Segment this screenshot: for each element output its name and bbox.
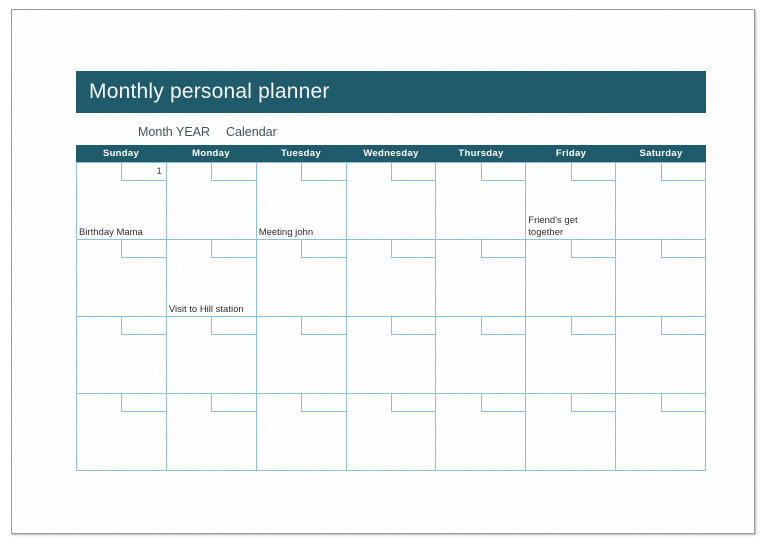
date-box[interactable] bbox=[661, 163, 705, 181]
weekday-header-tuesday: Tuesday bbox=[256, 145, 346, 162]
day-cell[interactable]: Meeting john bbox=[257, 163, 347, 240]
date-box[interactable] bbox=[391, 317, 435, 335]
day-cell[interactable] bbox=[347, 317, 437, 394]
weekday-header-monday: Monday bbox=[166, 145, 256, 162]
title-bar: Monthly personal planner bbox=[76, 71, 706, 113]
calendar-weeks: 1Birthday MamaMeeting johnFriend's get t… bbox=[76, 162, 706, 471]
date-box[interactable] bbox=[661, 317, 705, 335]
calendar-label: Calendar bbox=[226, 125, 277, 139]
day-cell[interactable] bbox=[436, 163, 526, 240]
date-box[interactable] bbox=[661, 394, 705, 412]
week-row bbox=[77, 394, 706, 471]
event-text[interactable]: Birthday Mama bbox=[79, 227, 164, 239]
week-row bbox=[77, 317, 706, 394]
date-box[interactable] bbox=[481, 240, 525, 258]
date-box[interactable] bbox=[301, 240, 345, 258]
date-box[interactable] bbox=[391, 394, 435, 412]
date-box[interactable]: 1 bbox=[121, 163, 165, 181]
day-cell[interactable] bbox=[436, 394, 526, 471]
day-cell[interactable] bbox=[167, 317, 257, 394]
day-cell[interactable] bbox=[77, 394, 167, 471]
day-cell[interactable] bbox=[257, 240, 347, 317]
date-box[interactable] bbox=[481, 317, 525, 335]
date-box[interactable] bbox=[391, 163, 435, 181]
event-text[interactable]: Visit to Hill station bbox=[169, 304, 254, 316]
day-cell[interactable] bbox=[167, 394, 257, 471]
date-box[interactable] bbox=[121, 394, 165, 412]
day-cell[interactable] bbox=[257, 394, 347, 471]
day-cell[interactable] bbox=[77, 240, 167, 317]
weekday-header-thursday: Thursday bbox=[436, 145, 526, 162]
day-cell[interactable] bbox=[257, 317, 347, 394]
date-box[interactable] bbox=[211, 317, 255, 335]
page-sheet: Monthly personal planner Month YEAR Cale… bbox=[11, 9, 755, 534]
date-box[interactable] bbox=[571, 163, 615, 181]
date-box[interactable] bbox=[571, 394, 615, 412]
date-box[interactable] bbox=[481, 394, 525, 412]
date-box[interactable] bbox=[481, 163, 525, 181]
date-box[interactable] bbox=[211, 163, 255, 181]
day-cell[interactable] bbox=[616, 163, 706, 240]
day-cell[interactable] bbox=[616, 317, 706, 394]
day-cell[interactable] bbox=[347, 394, 437, 471]
calendar-grid: SundayMondayTuesdayWednesdayThursdayFrid… bbox=[76, 145, 706, 471]
day-cell[interactable] bbox=[616, 240, 706, 317]
date-box[interactable] bbox=[301, 317, 345, 335]
week-row: 1Birthday MamaMeeting johnFriend's get t… bbox=[77, 163, 706, 240]
day-cell[interactable] bbox=[526, 317, 616, 394]
day-cell[interactable] bbox=[436, 317, 526, 394]
date-box[interactable] bbox=[391, 240, 435, 258]
page-title: Monthly personal planner bbox=[76, 80, 330, 104]
day-cell[interactable] bbox=[616, 394, 706, 471]
day-cell[interactable] bbox=[347, 163, 437, 240]
date-box[interactable] bbox=[661, 240, 705, 258]
day-cell[interactable] bbox=[77, 317, 167, 394]
date-box[interactable] bbox=[301, 394, 345, 412]
date-number: 1 bbox=[157, 167, 166, 177]
day-cell[interactable] bbox=[436, 240, 526, 317]
date-box[interactable] bbox=[571, 240, 615, 258]
day-cell[interactable]: Visit to Hill station bbox=[167, 240, 257, 317]
date-box[interactable] bbox=[121, 317, 165, 335]
day-cell[interactable] bbox=[526, 394, 616, 471]
day-cell[interactable] bbox=[526, 240, 616, 317]
weekday-header-friday: Friday bbox=[526, 145, 616, 162]
day-cell[interactable]: Friend's get together bbox=[526, 163, 616, 240]
subtitle-row: Month YEAR Calendar bbox=[76, 122, 706, 142]
date-box[interactable] bbox=[301, 163, 345, 181]
weekday-header-saturday: Saturday bbox=[616, 145, 706, 162]
weekday-header-wednesday: Wednesday bbox=[346, 145, 436, 162]
event-text[interactable]: Meeting john bbox=[259, 227, 344, 239]
day-cell[interactable] bbox=[167, 163, 257, 240]
weekday-header-row: SundayMondayTuesdayWednesdayThursdayFrid… bbox=[76, 145, 706, 162]
month-year-label: Month YEAR bbox=[138, 125, 210, 139]
day-cell[interactable] bbox=[347, 240, 437, 317]
week-row: Visit to Hill station bbox=[77, 240, 706, 317]
date-box[interactable] bbox=[211, 240, 255, 258]
event-text[interactable]: Friend's get together bbox=[528, 215, 613, 238]
weekday-header-sunday: Sunday bbox=[76, 145, 166, 162]
date-box[interactable] bbox=[571, 317, 615, 335]
day-cell[interactable]: 1Birthday Mama bbox=[77, 163, 167, 240]
date-box[interactable] bbox=[211, 394, 255, 412]
date-box[interactable] bbox=[121, 240, 165, 258]
